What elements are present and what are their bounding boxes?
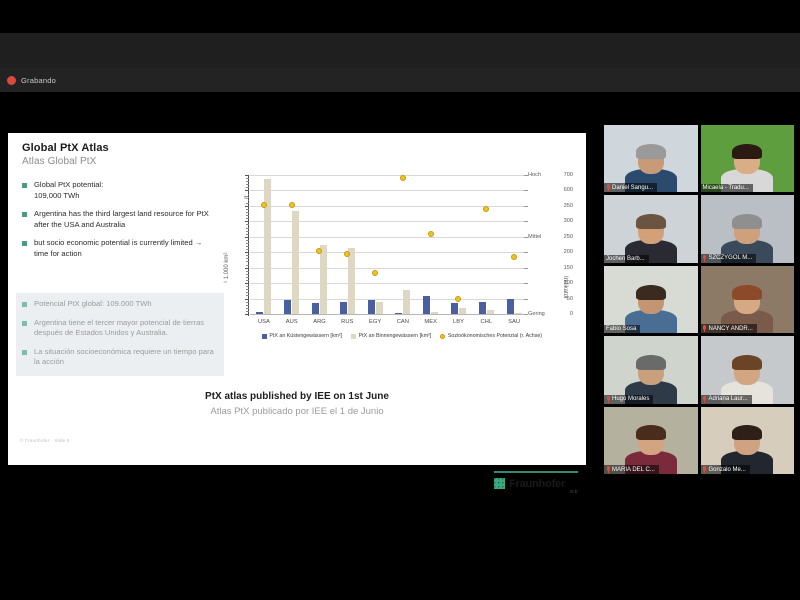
- participant-name-badge: NANCY ANDR...: [701, 324, 757, 333]
- y-tick-label: 150: [564, 265, 573, 271]
- y-tick-minor: [246, 228, 249, 229]
- ptx-bar-chart: ¹ 1.000 km² Indikator HochMittelGering U…: [224, 171, 576, 476]
- y-tick-minor: [246, 234, 249, 235]
- socioeconomic-dot: [316, 248, 322, 254]
- right-tick-label: Mittel: [528, 234, 541, 240]
- legend-label: Sozioökonomisches Potenzial (r. Achse): [448, 333, 542, 339]
- participant-name: Fabio Sosa: [606, 326, 636, 332]
- bar-group: [333, 175, 361, 314]
- y-tick-minor: [246, 261, 249, 262]
- bullet-list-spanish: Potencial PtX global: 109.000 TWh Argent…: [16, 293, 224, 376]
- socioeconomic-dot: [261, 202, 267, 208]
- y-tick-minor: [246, 255, 249, 256]
- y-tick-minor: [246, 203, 249, 204]
- square-bullet-icon: [22, 241, 27, 246]
- bar-inland: [376, 302, 383, 314]
- participant-name: Gonzalo Me...: [709, 467, 746, 473]
- logo-divider: [494, 471, 578, 473]
- bullet-text: Potencial PtX global: 109.000 TWh: [34, 299, 152, 310]
- y-tick-minor: [246, 249, 249, 250]
- list-item: La situación socioeconómica requiere un …: [22, 347, 218, 368]
- y-tick-minor: [246, 271, 249, 272]
- y-tick-mark: [245, 299, 249, 300]
- y-tick-minor: [246, 292, 249, 293]
- y-tick-minor: [246, 305, 249, 306]
- slide-caption: PtX atlas published by IEE on 1st June A…: [8, 391, 586, 417]
- socioeconomic-dot: [455, 296, 461, 302]
- socioeconomic-dot: [372, 270, 378, 276]
- y-tick-mark: [245, 314, 249, 315]
- legend-swatch-inland: [351, 334, 356, 339]
- y-tick-label: 350: [564, 203, 573, 209]
- participant-tile[interactable]: MARIA DEL C...: [604, 407, 698, 474]
- participant-tile[interactable]: Adriana Laur...: [701, 336, 795, 403]
- x-tick-label: LBY: [445, 319, 473, 325]
- participant-hair: [636, 425, 666, 440]
- y-tick-label: 200: [564, 249, 573, 255]
- socioeconomic-dot: [511, 254, 517, 260]
- bar-coastal: [256, 312, 263, 314]
- fraunhofer-mark-icon: [494, 478, 505, 489]
- y-tick-minor: [246, 311, 249, 312]
- participant-name: Micaela - Tradu...: [703, 185, 749, 191]
- y-tick-minor: [246, 218, 249, 219]
- x-tick-label: CHL: [472, 319, 500, 325]
- square-bullet-icon: [22, 212, 27, 217]
- bar-inland: [264, 179, 271, 314]
- y-tick-minor: [246, 240, 249, 241]
- chart-bar-groups: [250, 175, 528, 314]
- participant-name: Jochen Barb...: [606, 256, 645, 262]
- y-tick-mark: [245, 206, 249, 207]
- legend-item-socioeconomic: Sozioökonomisches Potenzial (r. Achse): [440, 333, 542, 339]
- y-tick-minor: [246, 265, 249, 266]
- participant-hair: [636, 144, 666, 159]
- bar-group: [361, 175, 389, 314]
- right-tick-mark: [524, 237, 528, 238]
- y-tick-label: 50: [567, 296, 573, 302]
- participant-hair: [732, 214, 762, 229]
- participant-name: NANCY ANDR...: [709, 326, 753, 332]
- legend-label: PtX an Binnengewässern [km²]: [359, 333, 432, 339]
- y-tick-mark: [245, 175, 249, 176]
- y-tick-minor: [246, 215, 249, 216]
- bar-group: [472, 175, 500, 314]
- y-tick-minor: [246, 258, 249, 259]
- participant-name-badge: Hugo Morales: [604, 395, 653, 404]
- bar-coastal: [312, 303, 319, 314]
- axis-break-icon: ≈: [244, 194, 248, 201]
- bar-group: [417, 175, 445, 314]
- participant-video-grid: Daniel Sangu...Micaela - Tradu...Jochen …: [604, 125, 794, 477]
- right-tick-mark: [524, 190, 528, 191]
- mic-muted-icon: [606, 184, 610, 191]
- bullet-text: La situación socioeconómica requiere un …: [34, 347, 218, 368]
- socioeconomic-dot: [344, 251, 350, 257]
- y-tick-mark: [245, 283, 249, 284]
- square-bullet-icon: [22, 321, 27, 326]
- square-bullet-icon: [22, 302, 27, 307]
- meeting-stage: Global PtX Atlas Atlas Global PtX Global…: [0, 92, 800, 600]
- participant-name: MARIA DEL C...: [612, 467, 655, 473]
- bar-inland: [320, 245, 327, 315]
- y-tick-label: 250: [564, 234, 573, 240]
- y-tick-label: 700: [564, 172, 573, 178]
- bullet-text: but socio economic potential is currentl…: [34, 238, 218, 259]
- bar-inland: [487, 310, 494, 314]
- bar-coastal: [395, 313, 402, 314]
- participant-name-badge: SZCZYGOL M...: [701, 254, 757, 263]
- y-tick-label: 0: [570, 311, 573, 317]
- y-tick-minor: [246, 212, 249, 213]
- bar-group: [445, 175, 473, 314]
- bar-group: [389, 175, 417, 314]
- y-tick-minor: [246, 280, 249, 281]
- x-tick-label: RUS: [333, 319, 361, 325]
- y-tick-minor: [246, 224, 249, 225]
- list-item: Argentina tiene el tercer mayor potencia…: [22, 318, 218, 339]
- bullet-text: Global PtX potential: 109,000 TWh: [34, 180, 103, 201]
- bullet-text: Argentina has the third largest land res…: [34, 209, 218, 230]
- participant-name: Hugo Morales: [612, 396, 649, 402]
- participant-name-badge: Gonzalo Me...: [701, 465, 750, 474]
- y-tick-mark: [245, 190, 249, 191]
- right-tick-mark: [524, 314, 528, 315]
- bar-coastal: [284, 300, 291, 314]
- square-bullet-icon: [22, 183, 27, 188]
- y-tick-minor: [246, 178, 249, 179]
- participant-name-badge: MARIA DEL C...: [604, 465, 659, 474]
- zoom-meeting-window: Grabando Global PtX Atlas Atlas Global P…: [0, 0, 800, 600]
- right-tick-label: Gering: [528, 311, 545, 317]
- mic-muted-icon: [703, 396, 707, 403]
- y-tick-minor: [246, 187, 249, 188]
- bar-coastal: [340, 302, 347, 314]
- participant-tile[interactable]: Gonzalo Me...: [701, 407, 795, 474]
- square-bullet-icon: [22, 350, 27, 355]
- fraunhofer-logo: Fraunhofer IEE: [494, 471, 578, 494]
- right-tick-mark: [524, 252, 528, 253]
- list-item: Argentina has the third largest land res…: [22, 209, 218, 230]
- socioeconomic-dot: [483, 206, 489, 212]
- right-tick-mark: [524, 206, 528, 207]
- record-dot-icon: [7, 76, 16, 85]
- slide-subtitle: Atlas Global PtX: [22, 156, 96, 167]
- y-tick-minor: [246, 289, 249, 290]
- y-tick-minor: [246, 302, 249, 303]
- bar-group: [306, 175, 334, 314]
- x-tick-label: ARG: [306, 319, 334, 325]
- y-tick-mark: [245, 252, 249, 253]
- bullet-list-english: Global PtX potential: 109,000 TWh Argent…: [22, 180, 218, 259]
- bar-group: [250, 175, 278, 314]
- socioeconomic-dot: [428, 231, 434, 237]
- participant-tile[interactable]: Jochen Barb...: [604, 195, 698, 262]
- y-tick-minor: [246, 184, 249, 185]
- participant-tile[interactable]: SZCZYGOL M...: [701, 195, 795, 262]
- participant-hair: [636, 214, 666, 229]
- chart-baseline: [250, 314, 528, 315]
- slide-title: Global PtX Atlas: [22, 142, 109, 154]
- bar-coastal: [479, 302, 486, 314]
- legend-dot-socioeconomic: [440, 334, 445, 339]
- bullet-text: Argentina tiene el tercer mayor potencia…: [34, 318, 218, 339]
- mic-muted-icon: [703, 466, 707, 473]
- bar-inland: [431, 312, 438, 314]
- y-tick-minor: [246, 274, 249, 275]
- recording-label: Grabando: [21, 76, 56, 85]
- chart-legend: PtX an Küstengewässern [km²] PtX an Binn…: [232, 333, 572, 339]
- right-tick-mark: [524, 221, 528, 222]
- bar-coastal: [368, 300, 375, 314]
- right-tick-mark: [524, 299, 528, 300]
- participant-name-badge: Jochen Barb...: [604, 255, 649, 263]
- bar-inland: [459, 308, 466, 314]
- participant-name-badge: Fabio Sosa: [604, 325, 640, 333]
- mic-muted-icon: [606, 396, 610, 403]
- y-tick-label: 300: [564, 218, 573, 224]
- participant-name: SZCZYGOL M...: [709, 255, 753, 261]
- participant-hair: [732, 285, 762, 300]
- y-tick-minor: [246, 246, 249, 247]
- participant-name-badge: Daniel Sangu...: [604, 183, 657, 192]
- y-tick-minor: [246, 277, 249, 278]
- participant-tile[interactable]: Micaela - Tradu...: [701, 125, 795, 192]
- socioeconomic-dot: [400, 175, 406, 181]
- mic-muted-icon: [703, 325, 707, 332]
- list-item: Global PtX potential: 109,000 TWh: [22, 180, 218, 201]
- participant-tile[interactable]: Hugo Morales: [604, 336, 698, 403]
- chart-x-axis-labels: USAAUSARGRUSEGYCANMEXLBYCHLSAU: [250, 319, 528, 325]
- participant-name: Adriana Laur...: [709, 396, 748, 402]
- bar-inland: [515, 313, 522, 314]
- y-tick-minor: [246, 295, 249, 296]
- y-tick-minor: [246, 231, 249, 232]
- participant-hair: [732, 355, 762, 370]
- x-tick-label: CAN: [389, 319, 417, 325]
- list-item: Potencial PtX global: 109.000 TWh: [22, 299, 218, 310]
- participant-tile[interactable]: Fabio Sosa: [604, 266, 698, 333]
- right-tick-mark: [524, 175, 528, 176]
- participant-hair: [636, 285, 666, 300]
- legend-item-inland: PtX an Binnengewässern [km²]: [351, 333, 431, 339]
- bar-coastal: [423, 296, 430, 314]
- x-tick-label: USA: [250, 319, 278, 325]
- participant-name-badge: Adriana Laur...: [701, 395, 752, 404]
- socioeconomic-dot: [289, 202, 295, 208]
- y-tick-label: 600: [564, 187, 573, 193]
- bar-inland: [348, 248, 355, 314]
- chart-plot-area: [250, 175, 528, 315]
- right-tick-mark: [524, 283, 528, 284]
- y-tick-minor: [246, 209, 249, 210]
- y-tick-minor: [246, 181, 249, 182]
- bar-coastal: [451, 303, 458, 314]
- list-item: but socio economic potential is currentl…: [22, 238, 218, 259]
- x-tick-label: EGY: [361, 319, 389, 325]
- y-tick-minor: [246, 243, 249, 244]
- participant-hair: [732, 144, 762, 159]
- mic-muted-icon: [606, 466, 610, 473]
- participant-hair: [636, 355, 666, 370]
- y-tick-minor: [246, 308, 249, 309]
- y-tick-label: 100: [564, 280, 573, 286]
- x-tick-label: SAU: [500, 319, 528, 325]
- bar-group: [278, 175, 306, 314]
- bar-inland: [403, 290, 410, 314]
- slide-footer-text: © Fraunhofer · Slide 5: [20, 438, 70, 443]
- bar-group: [500, 175, 528, 314]
- right-tick-mark: [524, 268, 528, 269]
- participant-name: Daniel Sangu...: [612, 185, 653, 191]
- y-tick-mark: [245, 237, 249, 238]
- participant-tile[interactable]: Daniel Sangu...: [604, 125, 698, 192]
- legend-item-coastal: PtX an Küstengewässern [km²]: [262, 333, 342, 339]
- participant-tile[interactable]: NANCY ANDR...: [701, 266, 795, 333]
- shared-screen-slide[interactable]: Global PtX Atlas Atlas Global PtX Global…: [8, 133, 586, 465]
- logo-wordmark: Fraunhofer: [509, 478, 565, 490]
- bar-coastal: [507, 299, 514, 314]
- y-tick-minor: [246, 286, 249, 287]
- mic-muted-icon: [703, 255, 707, 262]
- y-tick-mark: [245, 221, 249, 222]
- caption-spanish: Atlas PtX publicado por IEE el 1 de Juni…: [8, 406, 586, 417]
- zoom-toolbar: [0, 33, 800, 68]
- bar-inland: [292, 211, 299, 314]
- y-tick-mark: [245, 268, 249, 269]
- right-tick-label: Hoch: [528, 172, 541, 178]
- participant-name-badge: Micaela - Tradu...: [701, 184, 753, 192]
- x-tick-label: AUS: [278, 319, 306, 325]
- legend-swatch-coastal: [262, 334, 267, 339]
- caption-english: PtX atlas published by IEE on 1st June: [8, 391, 586, 402]
- legend-label: PtX an Küstengewässern [km²]: [269, 333, 342, 339]
- x-tick-label: MEX: [417, 319, 445, 325]
- participant-hair: [732, 425, 762, 440]
- recording-bar: Grabando: [0, 68, 800, 92]
